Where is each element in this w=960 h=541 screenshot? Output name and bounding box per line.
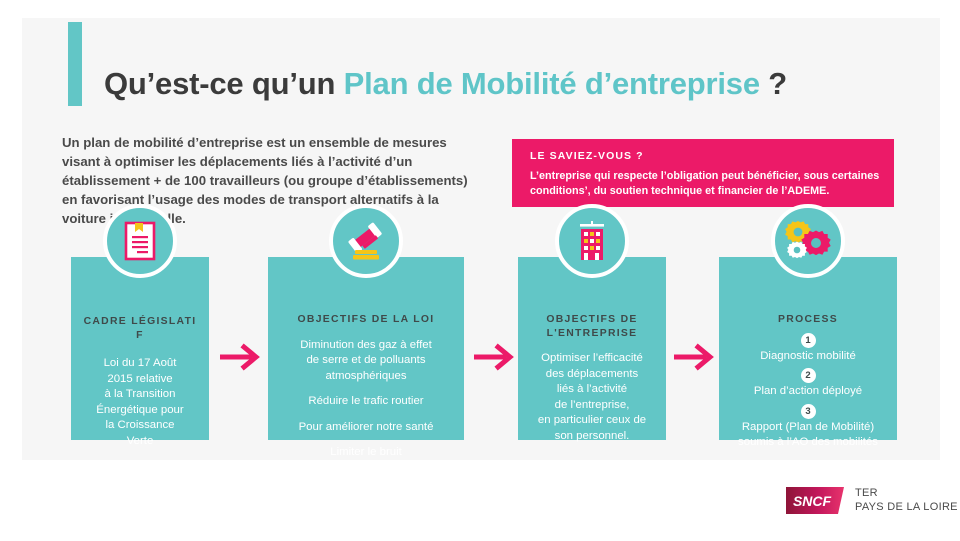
did-you-know-callout: LE SAVIEZ-VOUS ? L’entreprise qui respec… [512, 139, 894, 207]
page-title-trail: ? [760, 66, 787, 101]
step-label: Rapport (Plan de Mobilité) soumis à l’AO… [726, 420, 890, 451]
arrow-right-icon-1 [218, 342, 262, 372]
arrow-right-icon-2 [472, 342, 516, 372]
sncf-logo-text: SNCF [793, 493, 832, 509]
card-line: Réduire le trafic routier [275, 394, 457, 410]
step-number-badge: 3 [801, 404, 816, 419]
page-title: Qu’est-ce qu’un Plan de Mobilité d’entre… [104, 66, 787, 102]
brand-line-1: TER [855, 487, 958, 501]
document-icon [103, 204, 177, 278]
brand-label: TER PAYS DE LA LOIRE [855, 487, 958, 514]
page-title-lead: Qu’est-ce qu’un [104, 66, 344, 101]
step-number-badge: 1 [801, 333, 816, 348]
process-step: 2 Plan d’action déployé [726, 368, 890, 400]
slide-canvas: Qu’est-ce qu’un Plan de Mobilité d’entre… [22, 18, 940, 460]
card-process[interactable]: PROCESS 1 Diagnostic mobilité 2 Plan d’a… [719, 257, 897, 440]
card-body: Diminution des gaz à effet de serre et d… [268, 338, 464, 461]
card-body: 1 Diagnostic mobilité 2 Plan d’action dé… [719, 333, 897, 451]
footer-branding: SNCF TER PAYS DE LA LOIRE [786, 487, 958, 514]
card-line: Pour améliorer notre santé [275, 420, 457, 436]
card-line: Optimiser l’efficacité des déplacements … [525, 351, 659, 444]
card-cadre-legislatif[interactable]: CADRE LÉGISLATI F Loi du 17 Août 2015 re… [71, 257, 209, 440]
sncf-logo-icon: SNCF [786, 487, 844, 514]
gavel-icon [329, 204, 403, 278]
card-line: Diminution des gaz à effet de serre et d… [275, 338, 457, 385]
gears-icon [771, 204, 845, 278]
card-heading: PROCESS [719, 313, 897, 327]
card-body: Loi du 17 Août 2015 relative à la Transi… [71, 356, 209, 449]
brand-line-2: PAYS DE LA LOIRE [855, 501, 958, 515]
card-objectifs-de-l-entreprise[interactable]: OBJECTIFS DE L'ENTREPRISE Optimiser l’ef… [518, 257, 666, 440]
card-heading: OBJECTIFS DE L'ENTREPRISE [518, 313, 666, 340]
step-label: Diagnostic mobilité [726, 349, 890, 365]
card-heading: CADRE LÉGISLATI F [71, 315, 209, 342]
process-step: 1 Diagnostic mobilité [726, 333, 890, 365]
page-title-highlight: Plan de Mobilité d’entreprise [344, 66, 760, 101]
title-accent-bar [68, 22, 82, 106]
card-heading: OBJECTIFS DE LA LOI [268, 313, 464, 327]
did-you-know-title: LE SAVIEZ-VOUS ? [530, 150, 644, 162]
card-body: Optimiser l’efficacité des déplacements … [518, 351, 666, 444]
card-line: Limiter le bruit [275, 445, 457, 461]
step-number-badge: 2 [801, 368, 816, 383]
card-line: Loi du 17 Août 2015 relative à la Transi… [78, 356, 202, 449]
arrow-right-icon-3 [672, 342, 716, 372]
did-you-know-body: L’entreprise qui respecte l’obligation p… [530, 169, 880, 198]
building-icon [555, 204, 629, 278]
process-step: 3 Rapport (Plan de Mobilité) soumis à l’… [726, 404, 890, 451]
step-label: Plan d’action déployé [726, 384, 890, 400]
card-objectifs-de-la-loi[interactable]: OBJECTIFS DE LA LOI Diminution des gaz à… [268, 257, 464, 440]
